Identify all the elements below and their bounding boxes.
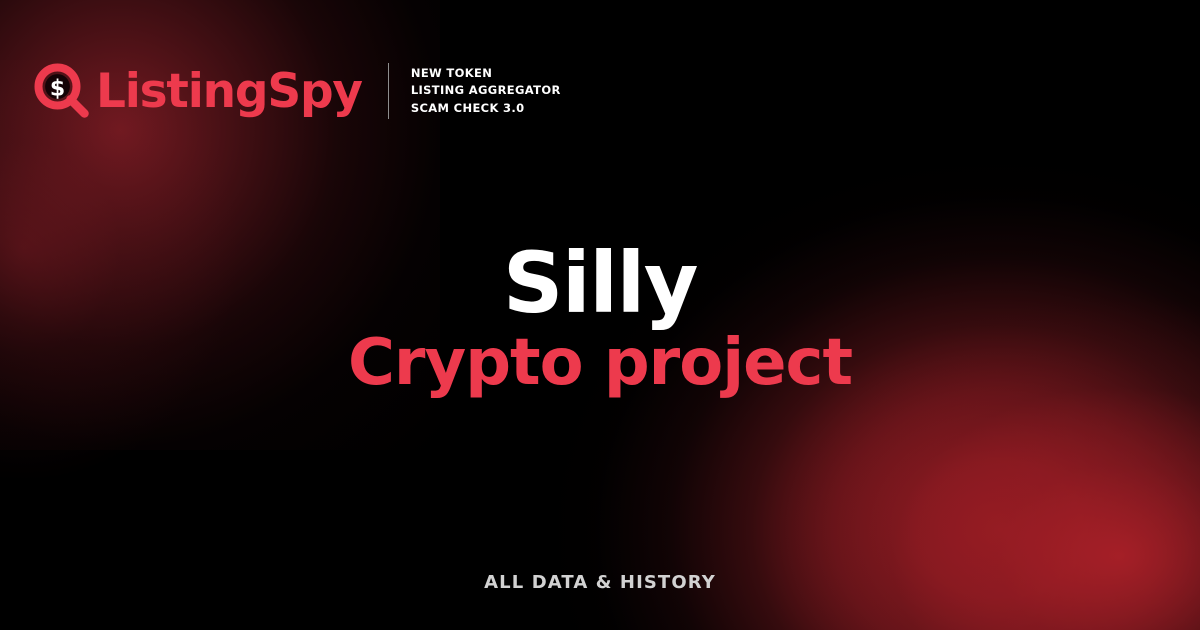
footer-caption: ALL DATA & HISTORY — [0, 572, 1200, 593]
brand-lockup[interactable]: $ ListingSpy NEW TOKEN LISTING AGGREGATO… — [34, 56, 561, 126]
footer-block: ALL DATA & HISTORY — [0, 572, 1200, 593]
magnifier-dollar-icon: $ — [34, 63, 90, 119]
svg-text:$: $ — [50, 77, 65, 102]
tagline-line-1: NEW TOKEN — [411, 66, 561, 81]
brand-wordmark: ListingSpy — [96, 68, 362, 115]
tagline-line-3: SCAM CHECK 3.0 — [411, 101, 561, 116]
brand-divider — [388, 63, 389, 119]
hero-subtitle: Crypto project — [0, 330, 1200, 397]
brand-tagline: NEW TOKEN LISTING AGGREGATOR SCAM CHECK … — [411, 66, 561, 116]
hero-block: Silly Crypto project — [0, 243, 1200, 396]
share-card: $ ListingSpy NEW TOKEN LISTING AGGREGATO… — [0, 0, 1200, 630]
tagline-line-2: LISTING AGGREGATOR — [411, 83, 561, 98]
hero-title: Silly — [0, 243, 1200, 324]
